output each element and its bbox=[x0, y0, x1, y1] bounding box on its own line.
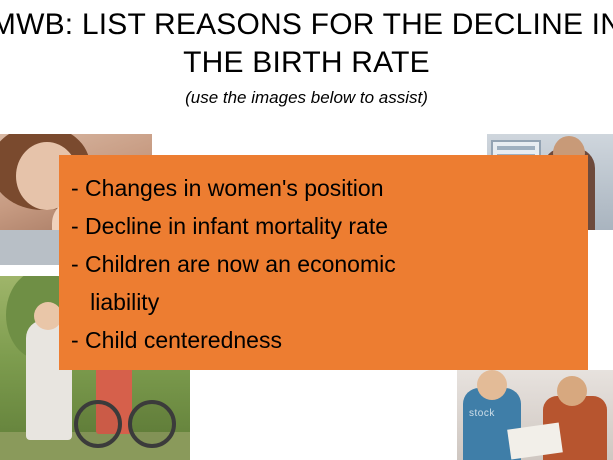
slide-canvas: stock MWB: LIST REASONS FOR THE DECLINE … bbox=[0, 0, 613, 460]
list-item: - Changes in women's position bbox=[69, 169, 576, 207]
list-item: liability bbox=[69, 283, 576, 321]
list-item: - Decline in infant mortality rate bbox=[69, 207, 576, 245]
answer-list: - Changes in women's position - Decline … bbox=[69, 169, 576, 359]
page-title: MWB: LIST REASONS FOR THE DECLINE IN THE… bbox=[0, 6, 613, 82]
photo-shape-bicycle-wheel-rear bbox=[128, 400, 176, 448]
nurse-with-patient-photo: stock bbox=[457, 370, 613, 460]
list-item: - Child centeredness bbox=[69, 321, 576, 359]
photo-shape-patient-head bbox=[557, 376, 587, 406]
photo-shape-adult-head bbox=[34, 302, 62, 330]
photo-shape-nurse-head bbox=[477, 370, 507, 400]
photo-watermark: stock bbox=[469, 408, 495, 419]
photo-shape-bicycle-wheel-front bbox=[74, 400, 122, 448]
page-subtitle: (use the images below to assist) bbox=[0, 88, 613, 108]
list-item: - Children are now an economic bbox=[69, 245, 576, 283]
answer-box: - Changes in women's position - Decline … bbox=[59, 155, 588, 370]
